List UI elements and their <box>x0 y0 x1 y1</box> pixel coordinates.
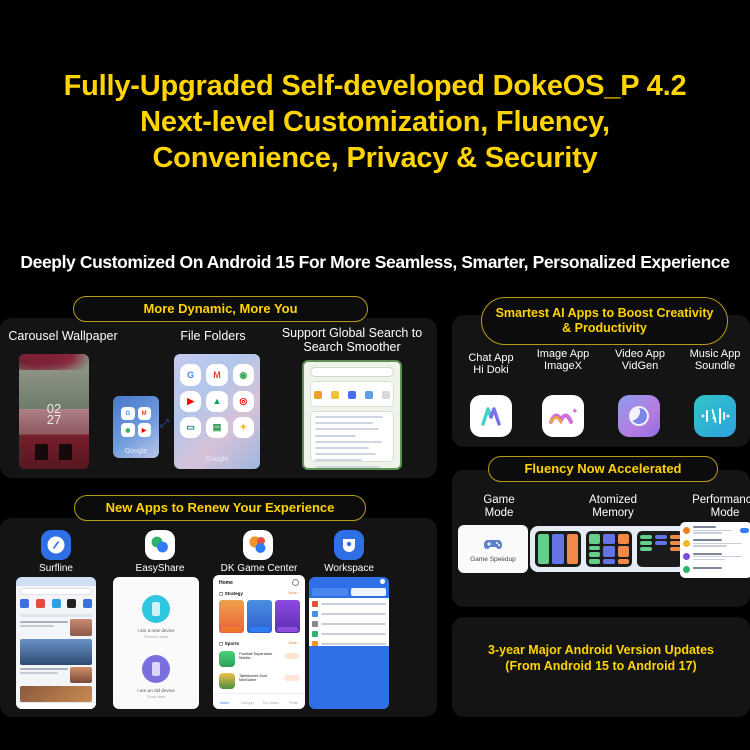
badge-new-apps: New Apps to Renew Your Experience <box>74 495 366 521</box>
folder-icon-grid: G M ◉ ▶ ▲ ◎ ▭ ▤ ✦ <box>180 364 254 438</box>
game-list-item[interactable] <box>219 651 235 667</box>
gamecenter-section-strategy-more[interactable]: More › <box>289 591 299 595</box>
easyshare-new-device-label: I am a new device <box>113 628 199 633</box>
carousel-wallpaper-preview: 02 27 <box>19 354 89 469</box>
perf-text-split-screen <box>693 553 749 562</box>
app-icon-youtube[interactable]: ▶ <box>180 391 201 412</box>
perf-icon-battery <box>683 540 690 547</box>
collapsed-folder-label: Google <box>113 448 159 455</box>
memory-column <box>538 534 549 564</box>
expand-arrow-icon: ⤢ <box>160 418 169 431</box>
caption-performance-mode: Performance Mode <box>680 494 750 520</box>
perf-icon-performance <box>683 527 690 534</box>
surfline-tabs[interactable] <box>20 614 92 617</box>
ai-app-name-image: ImageX <box>530 360 596 372</box>
workspace-screenshot[interactable] <box>309 577 389 709</box>
badge-ai-apps-line2: & Productivity <box>562 321 647 336</box>
badge-more-dynamic: More Dynamic, More You <box>73 296 368 322</box>
vidgen-icon[interactable] <box>618 395 660 437</box>
collapsed-folder-preview[interactable]: G M ◉ ▶ Google <box>113 396 159 458</box>
gamecenter-section-sports: ▢ Sports <box>219 641 239 647</box>
perf-row-split-screen[interactable] <box>683 553 749 562</box>
surfline-searchbar[interactable] <box>20 588 92 595</box>
news-thumb-4 <box>20 686 92 702</box>
ai-app-name-video: VidGen <box>607 360 673 372</box>
easyshare-new-device-sub: Receive data <box>113 635 199 639</box>
folder-mini-icon-google: G <box>121 407 134 420</box>
badge-ai-apps: Smartest AI Apps to Boost Creativity & P… <box>481 297 728 345</box>
panel-new-apps: Surfline <box>0 518 437 717</box>
expanded-folder-preview[interactable]: G M ◉ ▶ ▲ ◎ ▭ ▤ ✦ Google <box>174 354 260 469</box>
perf-text-performance <box>693 526 737 535</box>
wallpaper-foreground <box>19 435 89 470</box>
game-install-button[interactable] <box>284 675 300 681</box>
game-price-pill[interactable] <box>221 627 242 632</box>
result-row <box>315 447 369 449</box>
wallpaper-chair-right <box>59 444 72 460</box>
updates-line-2: (From Android 15 to Android 17) <box>452 658 750 674</box>
atomized-memory-line2: Memory <box>554 507 672 520</box>
caption-file-folders: File Folders <box>148 330 278 344</box>
folder-mini-icon-maps: ◉ <box>121 423 134 436</box>
workspace-tabs[interactable] <box>312 588 386 596</box>
shortcut-icon[interactable] <box>52 599 61 608</box>
suggestion-icon-1[interactable] <box>314 391 322 399</box>
memory-column <box>655 535 667 545</box>
memory-column <box>603 534 614 564</box>
result-row <box>315 459 362 461</box>
workspace-icon[interactable] <box>334 530 364 560</box>
memory-block-stage3 <box>637 531 683 567</box>
wallpaper-chair-left <box>35 444 48 460</box>
app-icon-meet[interactable]: ▭ <box>180 417 201 438</box>
search-suggestions-box <box>310 381 394 407</box>
close-icon[interactable] <box>292 579 299 586</box>
gamepad-icon <box>482 536 504 552</box>
folder-mini-icon-youtube: ▶ <box>138 423 151 436</box>
app-icon-google[interactable]: G <box>180 364 201 385</box>
perf-row-charging[interactable] <box>683 566 749 573</box>
workspace-list-row[interactable] <box>312 611 386 617</box>
game-install-button[interactable] <box>284 653 300 659</box>
ai-app-name-chat: Hi Doki <box>460 364 522 376</box>
soundle-glyph <box>700 406 730 426</box>
ai-app-label-video: Video App VidGen <box>607 348 673 372</box>
app-icon-photos[interactable]: ✦ <box>233 417 254 438</box>
new-app-label-easyshare: EasyShare <box>120 563 200 574</box>
perf-icon-charging <box>683 566 690 573</box>
surfline-icon[interactable] <box>41 530 71 560</box>
surfline-bottom-nav[interactable] <box>16 702 96 709</box>
soundle-icon[interactable] <box>694 395 736 437</box>
result-row <box>315 416 383 418</box>
dk-game-center-glyph <box>247 534 269 556</box>
nav-tab-category[interactable]: Category <box>236 694 259 709</box>
perf-row-battery[interactable] <box>683 539 749 548</box>
ai-app-name-music: Soundle <box>682 360 748 372</box>
phone-glyph <box>152 662 160 676</box>
memory-column <box>618 534 629 564</box>
surfline-header <box>16 577 96 586</box>
workspace-header <box>309 577 389 586</box>
imagex-icon[interactable]: ✦ <box>542 395 584 437</box>
updates-line-1: 3-year Major Android Version Updates <box>452 642 750 658</box>
workspace-glyph <box>339 535 359 555</box>
headline-line-3: Convenience, Privacy & Security <box>0 140 750 176</box>
app-icon-classroom[interactable]: ▤ <box>206 417 227 438</box>
search-input[interactable] <box>310 367 394 377</box>
workspace-add-icon[interactable] <box>380 579 385 584</box>
news-thumb-1 <box>70 619 92 636</box>
new-app-label-workspace: Workspace <box>309 563 389 574</box>
performance-mode-line2: Mode <box>680 507 750 520</box>
memory-column <box>552 534 563 564</box>
perf-text-charging <box>693 567 749 571</box>
new-app-label-surfline: Surfline <box>16 563 96 574</box>
easyshare-screenshot[interactable]: I am a new device Receive data I am an o… <box>113 577 199 709</box>
result-row <box>315 422 373 424</box>
easyshare-old-device-sub: Send data <box>113 695 199 699</box>
perf-icon-split-screen <box>683 553 690 560</box>
suggestion-icon-3[interactable] <box>348 391 356 399</box>
nav-tab-top-charts[interactable]: Top Charts <box>259 694 282 709</box>
page-title: Fully-Upgraded Self-developed DokeOS_P 4… <box>0 68 750 176</box>
caption-global-search: Support Global Search to Search Smoother <box>272 327 432 355</box>
gamecenter-bottom-nav[interactable]: Home Category Top Charts Profile <box>213 693 305 709</box>
result-row <box>315 466 380 468</box>
badge-fluency: Fluency Now Accelerated <box>488 456 718 482</box>
ai-app-kind-image: Image App <box>530 348 596 360</box>
headline-line-1: Fully-Upgraded Self-developed DokeOS_P 4… <box>0 68 750 104</box>
global-search-preview[interactable] <box>302 360 402 470</box>
news-card-2[interactable] <box>20 668 68 682</box>
atomized-memory-line1: Atomized <box>554 494 672 507</box>
shortcut-icon[interactable] <box>83 599 92 608</box>
dk-game-center-icon[interactable] <box>243 530 273 560</box>
ai-app-kind-video: Video App <box>607 348 673 360</box>
new-app-label-dk-game-center: DK Game Center <box>206 563 312 574</box>
dk-game-center-screenshot[interactable]: Home ▢ Strategy More › ▢ Sports More › F… <box>213 575 305 709</box>
workspace-list-row[interactable] <box>312 621 386 627</box>
app-icon-maps[interactable]: ◉ <box>233 364 254 385</box>
poster-root: Fully-Upgraded Self-developed DokeOS_P 4… <box>0 0 750 750</box>
panel-more-dynamic: Carousel Wallpaper 02 27 G M ◉ ▶ Google … <box>0 318 437 478</box>
ai-app-label-chat: Chat App Hi Doki <box>460 352 522 376</box>
suggestion-icon-2[interactable] <box>331 391 339 399</box>
perf-row-performance[interactable] <box>683 526 749 535</box>
game-price-pill[interactable] <box>277 627 298 632</box>
shortcut-icon[interactable] <box>67 599 76 608</box>
suggestion-icon-5[interactable] <box>382 391 390 399</box>
memory-column <box>640 535 652 551</box>
app-icon-youtube-music[interactable]: ◎ <box>233 391 254 412</box>
shortcut-icon[interactable] <box>36 599 45 608</box>
performance-mode-line1: Performance <box>680 494 750 507</box>
caption-carousel-wallpaper: Carousel Wallpaper <box>0 330 128 344</box>
subheadline: Deeply Customized On Android 15 For More… <box>0 252 750 273</box>
collapsed-folder-grid: G M ◉ ▶ <box>121 407 150 436</box>
panel-updates: 3-year Major Android Version Updates (Fr… <box>452 617 750 717</box>
game-mode-line1: Game <box>462 494 536 507</box>
imagex-glyph: ✦ <box>549 406 577 426</box>
nav-tab-home[interactable]: Home <box>213 694 236 709</box>
performance-mode-card[interactable] <box>680 522 750 578</box>
perf-text-battery <box>693 539 749 548</box>
result-row <box>315 453 376 455</box>
app-icon-gmail[interactable]: M <box>206 364 227 385</box>
hi-doki-icon[interactable] <box>470 395 512 437</box>
game-list-title: Football Superstars Mobile... <box>239 652 285 660</box>
workspace-list-row[interactable] <box>312 631 386 637</box>
easyshare-old-device-icon[interactable] <box>142 655 170 683</box>
memory-block-stage2 <box>586 531 632 567</box>
svg-text:✦: ✦ <box>571 406 577 416</box>
folder-mini-icon-gmail: M <box>138 407 151 420</box>
clock-minute: 27 <box>19 414 89 425</box>
surfline-screenshot[interactable] <box>16 577 96 709</box>
lockscreen-clock: 02 27 <box>19 403 89 425</box>
game-list-item[interactable] <box>219 673 235 689</box>
workspace-canvas <box>309 646 389 709</box>
easyshare-new-device-icon[interactable] <box>142 595 170 623</box>
result-row <box>315 441 382 443</box>
surfline-glyph <box>46 535 66 555</box>
ai-app-kind-music: Music App <box>682 348 748 360</box>
perf-toggle-performance[interactable] <box>740 528 749 533</box>
phone-glyph <box>152 602 160 616</box>
game-mode-line2: Mode <box>462 507 536 520</box>
memory-block-stage1 <box>535 531 581 567</box>
hi-doki-glyph <box>478 403 504 429</box>
updates-text: 3-year Major Android Version Updates (Fr… <box>452 642 750 674</box>
app-icon-drive[interactable]: ▲ <box>206 391 227 412</box>
headline-line-2: Next-level Customization, Fluency, <box>0 104 750 140</box>
workspace-tab-1[interactable] <box>312 588 348 596</box>
result-row <box>315 435 356 437</box>
expanded-folder-label: Google <box>174 456 260 463</box>
ai-app-kind-chat: Chat App <box>460 352 522 364</box>
news-card-1[interactable] <box>20 621 68 635</box>
search-results-list <box>310 411 394 462</box>
workspace-list-row[interactable] <box>312 601 386 607</box>
memory-column <box>567 534 578 564</box>
easyshare-old-device-label: I am an old device <box>113 688 199 693</box>
nav-tab-profile[interactable]: Profile <box>282 694 305 709</box>
caption-game-mode-text: Game Mode <box>462 494 536 520</box>
gamecenter-title: Home <box>219 580 233 586</box>
game-price-pill[interactable] <box>249 627 270 632</box>
ai-app-label-music: Music App Soundle <box>682 348 748 372</box>
atomized-memory-diagram <box>530 526 688 572</box>
search-suggestion-icons <box>314 391 390 399</box>
news-thumb-3 <box>70 667 92 683</box>
workspace-list <box>309 598 389 646</box>
panel-fluency: Game Mode Game Speedup Atomized Memory <box>452 470 750 607</box>
caption-atomized-memory: Atomized Memory <box>554 494 672 520</box>
news-thumb-2 <box>20 639 92 665</box>
easyshare-glyph <box>149 534 171 556</box>
vidgen-glyph <box>626 403 652 429</box>
workspace-tab-2[interactable] <box>351 588 387 596</box>
badge-ai-apps-line1: Smartest AI Apps to Boost Creativity <box>496 306 714 321</box>
shortcut-icon[interactable] <box>20 599 29 608</box>
surfline-shortcut-row <box>20 599 92 608</box>
suggestion-icon-4[interactable] <box>365 391 373 399</box>
memory-column <box>589 534 600 564</box>
game-speedup-card[interactable]: Game Speedup <box>458 525 528 573</box>
game-list-title: Tablebones Duel MiniGame <box>239 674 285 682</box>
game-speedup-label: Game Speedup <box>470 556 516 563</box>
easyshare-icon[interactable] <box>145 530 175 560</box>
ai-app-label-image: Image App ImageX <box>530 348 596 372</box>
result-row <box>315 428 379 430</box>
gamecenter-section-sports-more[interactable]: More › <box>289 641 299 645</box>
gamecenter-section-strategy: ▢ Strategy <box>219 591 243 597</box>
